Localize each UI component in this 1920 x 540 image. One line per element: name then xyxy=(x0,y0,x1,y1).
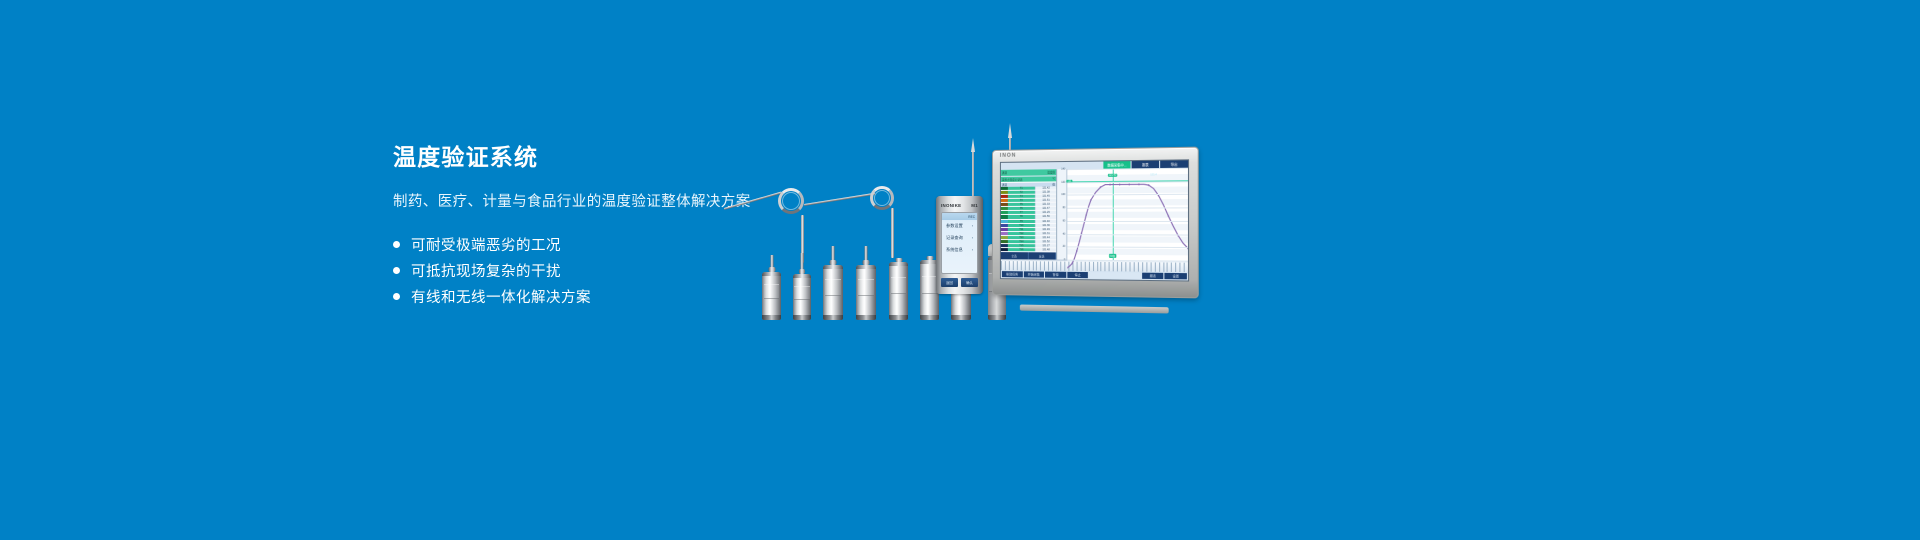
channel-value-cell: 121.33 xyxy=(1035,203,1056,206)
channel-name-cell: T6 xyxy=(1008,207,1035,210)
reader-menu-label: 系统信息 xyxy=(946,247,963,253)
product-photo-group: INONIKE M1 REC 参数设置 › 记录查询 › 系统信息 › xyxy=(700,120,1260,320)
reader-status-bar: REC xyxy=(942,213,977,220)
handheld-reader-device: INONIKE M1 REC 参数设置 › 记录查询 › 系统信息 › xyxy=(936,196,983,294)
chart-y-tick-label: 140 xyxy=(1061,168,1065,171)
channel-value-cell: 121.40 xyxy=(1035,219,1056,222)
chart-plot-area[interactable]: 121.40 F0值 121.4 121 xyxy=(1067,168,1188,261)
channel-name-cell: T12 xyxy=(1008,232,1035,235)
channel-name-cell: T1 xyxy=(1008,187,1035,190)
reader-model-name: M1 xyxy=(971,203,978,208)
channel-value-cell: 121.42 xyxy=(1035,186,1056,189)
channel-name-cell: T8 xyxy=(1008,215,1035,218)
channel-value-cell: 121.49 xyxy=(1035,228,1056,231)
channel-name-cell: T11 xyxy=(1008,228,1035,231)
channel-name-cell: T4 xyxy=(1008,199,1035,202)
start-acquisition-button[interactable]: 开始采集 xyxy=(1023,271,1044,277)
channel-value-cell: 121.29 xyxy=(1035,211,1056,214)
chart-gridline xyxy=(1067,221,1188,222)
reader-menu-chevron-icon: › xyxy=(972,248,973,252)
bullet-dot-icon xyxy=(393,241,400,248)
reader-menu-label: 记录查询 xyxy=(946,235,963,241)
chart-y-tick-label: 120 xyxy=(1061,181,1065,184)
channel-color-swatch xyxy=(1001,215,1008,218)
channel-table-body: T1121.42T2121.38T3121.45T4121.51T5121.33… xyxy=(1001,186,1056,252)
logger-label-band xyxy=(764,284,780,298)
hero-banner: 温度验证系统 制药、医疗、计量与食品行业的温度验证整体解决方案 可耐受极端恶劣的… xyxy=(0,0,1920,540)
bullet-label: 可抵抗现场复杂的干扰 xyxy=(411,260,561,281)
channel-value-cell: 121.38 xyxy=(1035,191,1056,194)
chart-y-tick-label: 80 xyxy=(1063,206,1066,209)
channel-subheader-right: ℃ xyxy=(1052,177,1055,180)
monitor-stand-foot xyxy=(1020,305,1169,314)
software-screen: 数据采集中... 报表 导出 通道 温度值 采样点温度记录表 ℃ xyxy=(1000,159,1189,281)
new-task-button[interactable]: 新建任务 xyxy=(1002,271,1023,277)
channel-value-cell: 121.36 xyxy=(1035,224,1056,227)
temperature-chart: 020406080100120140 121.40 F0值 121.4 121 xyxy=(1057,168,1188,261)
reader-menu-label: 参数设置 xyxy=(946,223,963,229)
channel-color-swatch xyxy=(1001,203,1008,206)
channel-color-swatch xyxy=(1001,232,1008,235)
reader-menu-item[interactable]: 参数设置 › xyxy=(942,220,977,232)
data-logger xyxy=(856,254,876,320)
coil-probe-wire xyxy=(724,192,782,210)
data-logger xyxy=(889,252,908,320)
reader-menu-item[interactable]: 记录查询 › xyxy=(942,232,977,244)
channel-value-cell: 121.47 xyxy=(1035,207,1056,210)
chart-y-tick-label: 60 xyxy=(1063,219,1066,222)
bullet-dot-icon xyxy=(393,293,400,300)
channel-name-cell: T3 xyxy=(1008,195,1035,198)
bullet-label: 可耐受极端恶劣的工况 xyxy=(411,234,561,255)
reader-menu-chevron-icon: › xyxy=(972,236,973,240)
channel-table: 通道 温度值 采样点温度记录表 ℃ 通道 值 T1121.42T2121.38T… xyxy=(1001,169,1057,259)
channel-color-swatch xyxy=(1001,211,1008,214)
coil-probe-loop xyxy=(778,188,804,214)
channel-color-swatch xyxy=(1001,236,1008,239)
channel-color-swatch xyxy=(1001,224,1008,227)
bullet-label: 有线和无线一体化解决方案 xyxy=(411,286,591,307)
channel-name-cell: T2 xyxy=(1008,191,1035,194)
needle-probe-tip xyxy=(1008,123,1012,138)
pause-button[interactable]: 暂停 xyxy=(1045,272,1066,278)
monitor-display-device: INON 数据采集中... 报表 导出 通道 温度值 xyxy=(992,147,1199,299)
logger-label-band xyxy=(858,279,875,296)
reader-menu-item[interactable]: 系统信息 › xyxy=(942,244,977,256)
data-logger xyxy=(823,254,843,320)
reader-status-text: REC xyxy=(968,215,975,219)
reader-brand-label: INONIKE M1 xyxy=(941,203,978,208)
channel-name-cell: T5 xyxy=(1008,203,1035,206)
channel-value-cell: 121.44 xyxy=(1035,236,1056,239)
reader-confirm-button[interactable]: 确认 xyxy=(961,278,978,287)
channel-value-cell: 121.51 xyxy=(1035,199,1056,202)
software-main-area: 通道 温度值 采样点温度记录表 ℃ 通道 值 T1121.42T2121.38T… xyxy=(1001,168,1188,261)
channel-name-cell: T7 xyxy=(1008,211,1035,214)
chart-y-tick-label: 20 xyxy=(1063,245,1066,248)
channel-color-swatch xyxy=(1001,191,1008,194)
chart-y-tick-label: 100 xyxy=(1061,193,1065,196)
logger-label-band xyxy=(825,279,842,296)
channel-color-swatch xyxy=(1001,207,1008,210)
channel-value-cell: 121.31 xyxy=(1035,232,1056,235)
channel-name-cell: T10 xyxy=(1008,224,1035,227)
channel-header-left: 通道 xyxy=(1002,171,1007,175)
channel-value-cell: 121.52 xyxy=(1035,240,1056,243)
reader-menu-chevron-icon: › xyxy=(972,224,973,228)
channel-color-swatch xyxy=(1001,244,1008,247)
data-logger xyxy=(762,262,781,320)
channel-color-swatch xyxy=(1001,248,1008,251)
channel-name-cell: T16 xyxy=(1008,248,1035,251)
channel-value-cell: 121.27 xyxy=(1035,244,1056,247)
needle-probe-tip xyxy=(971,138,975,152)
channel-header-right: 温度值 xyxy=(1047,170,1055,174)
channel-color-swatch xyxy=(1001,195,1008,198)
channel-color-swatch xyxy=(1001,199,1008,202)
channel-color-swatch xyxy=(1001,187,1008,190)
reader-brand-name: INONIKE xyxy=(941,203,961,208)
chart-series-line xyxy=(1067,168,1188,282)
logger-label-band xyxy=(891,277,907,294)
channel-name-cell: T14 xyxy=(1008,240,1035,243)
monitor-brand-label: INON xyxy=(1000,153,1016,159)
channel-value-cell: 121.56 xyxy=(1035,215,1056,218)
chart-y-tick-label: 0 xyxy=(1064,258,1065,261)
channel-color-swatch xyxy=(1001,240,1008,243)
channel-value-cell: 121.45 xyxy=(1035,195,1056,198)
channel-value-cell: 121.48 xyxy=(1035,248,1056,251)
coil-probe-wire xyxy=(804,193,875,206)
coil-probe-wire xyxy=(891,208,894,258)
channel-name-cell: T13 xyxy=(1008,236,1035,239)
logger-label-band xyxy=(794,286,809,300)
reader-lcd-screen: REC 参数设置 › 记录查询 › 系统信息 › xyxy=(941,212,978,274)
channel-color-swatch xyxy=(1001,228,1008,231)
bullet-dot-icon xyxy=(393,267,400,274)
data-logger xyxy=(793,264,811,320)
reader-back-button[interactable]: 返回 xyxy=(941,278,958,287)
channel-name-cell: T15 xyxy=(1008,244,1035,247)
coil-probe-loop xyxy=(870,186,894,210)
chart-y-tick-label: 40 xyxy=(1063,232,1066,235)
reader-button-row: 返回 确认 xyxy=(941,278,978,287)
channel-color-swatch xyxy=(1001,219,1008,222)
channel-name-cell: T9 xyxy=(1008,219,1035,222)
